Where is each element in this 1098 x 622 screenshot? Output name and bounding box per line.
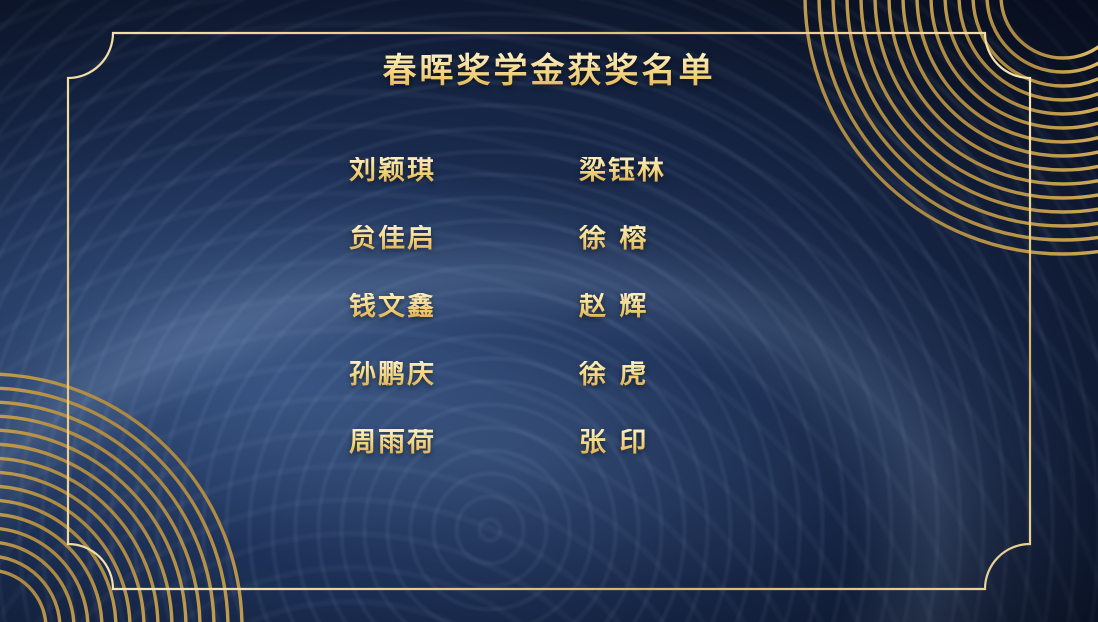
winner-name-list: 刘颖琪 梁钰林 贠佳启 徐 榕 钱文鑫 赵 辉 孙鹏庆 徐 虎 周雨荷 [349, 137, 749, 477]
table-row: 周雨荷 张 印 [349, 409, 749, 477]
winner-name: 张 印 [579, 429, 749, 456]
winner-name: 周雨荷 [349, 429, 519, 456]
winner-name: 徐 虎 [579, 361, 749, 388]
winner-name: 赵 辉 [579, 293, 749, 320]
table-row: 钱文鑫 赵 辉 [349, 273, 749, 341]
slide-canvas: 春晖奖学金获奖名单 刘颖琪 梁钰林 贠佳启 徐 榕 钱文鑫 赵 辉 孙鹏庆 徐 … [0, 0, 1098, 622]
winner-name: 梁钰林 [579, 157, 749, 184]
winner-name: 贠佳启 [349, 225, 519, 252]
table-row: 刘颖琪 梁钰林 [349, 137, 749, 205]
slide-content: 春晖奖学金获奖名单 刘颖琪 梁钰林 贠佳启 徐 榕 钱文鑫 赵 辉 孙鹏庆 徐 … [68, 33, 1030, 589]
table-row: 孙鹏庆 徐 虎 [349, 341, 749, 409]
winner-name: 刘颖琪 [349, 157, 519, 184]
winner-name: 徐 榕 [579, 225, 749, 252]
page-title: 春晖奖学金获奖名单 [383, 50, 716, 93]
winner-name: 孙鹏庆 [349, 361, 519, 388]
winner-name: 钱文鑫 [349, 293, 519, 320]
table-row: 贠佳启 徐 榕 [349, 205, 749, 273]
